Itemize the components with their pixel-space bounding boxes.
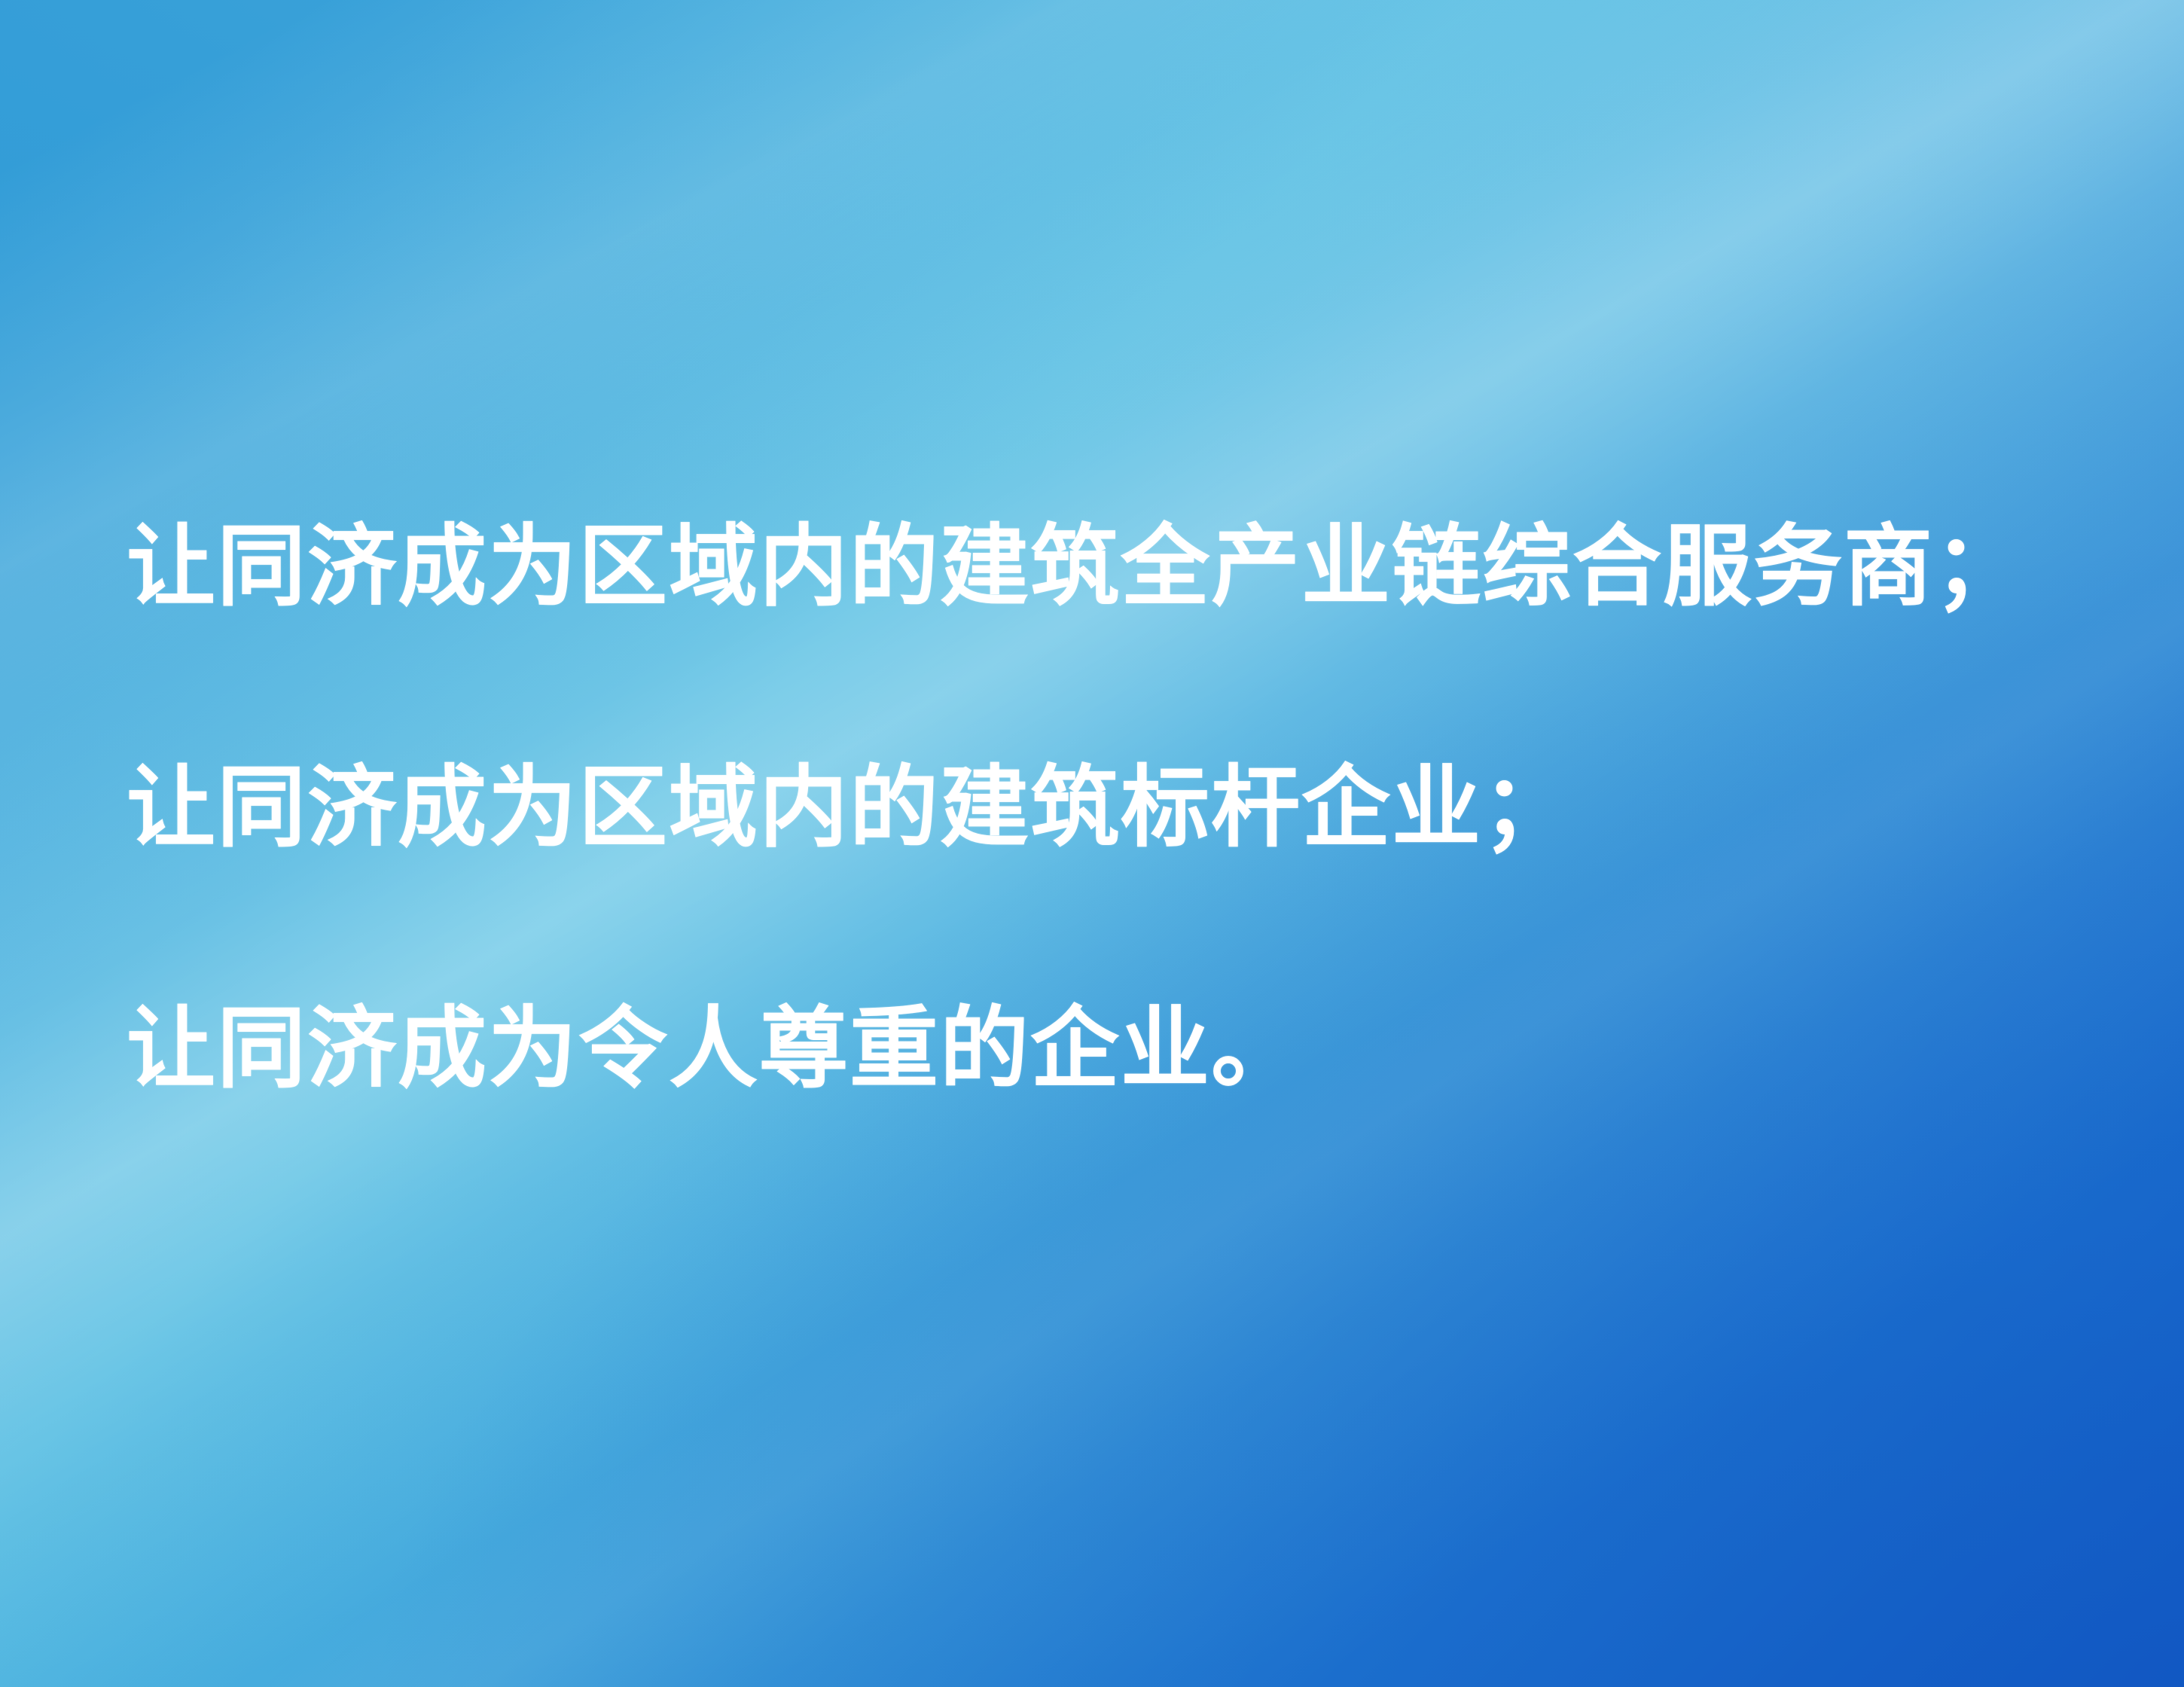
- slide-text-line-1: 让同济成为区域内的建筑全产业链综合服务商；: [127, 447, 2100, 688]
- slide-canvas: 让同济成为区域内的建筑全产业链综合服务商； 让同济成为区域内的建筑标杆企业； 让…: [0, 0, 2184, 1687]
- slide-text-line-3: 让同济成为令人尊重的企业。: [127, 929, 2100, 1170]
- slide-text-block: 让同济成为区域内的建筑全产业链综合服务商； 让同济成为区域内的建筑标杆企业； 让…: [127, 447, 2100, 1170]
- slide-text-line-2: 让同济成为区域内的建筑标杆企业；: [127, 688, 2100, 929]
